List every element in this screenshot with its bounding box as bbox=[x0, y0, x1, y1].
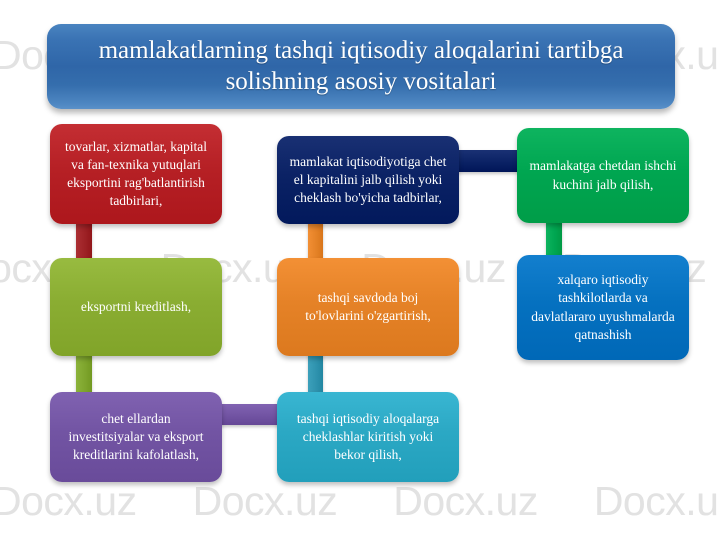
node-label: tovarlar, xizmatlar, kapital va fan-texn… bbox=[62, 138, 210, 210]
node-label: eksportni kreditlash, bbox=[81, 298, 191, 316]
diagram-canvas: mamlakatlarning tashqi iqtisodiy aloqala… bbox=[0, 0, 720, 540]
node-label: mamlakat iqtisodiyotiga chet el kapitali… bbox=[289, 153, 447, 207]
diagram-node-xalqaro-tashkilotlar[interactable]: xalqaro iqtisodiy tashkilotlarda va davl… bbox=[517, 255, 689, 360]
diagram-node-boj-tolovlari[interactable]: tashqi savdoda boj to'lovlarini o'zgarti… bbox=[277, 258, 459, 356]
diagram-node-investitsiya-kafolat[interactable]: chet ellardan investitsiyalar va eksport… bbox=[50, 392, 222, 482]
diagram-node-eksportni-kreditlash[interactable]: eksportni kreditlash, bbox=[50, 258, 222, 356]
diagram-node-cheklashlar[interactable]: tashqi iqtisodiy aloqalarga cheklashlar … bbox=[277, 392, 459, 482]
diagram-node-chet-el-kapitali[interactable]: mamlakat iqtisodiyotiga chet el kapitali… bbox=[277, 136, 459, 224]
connector-node5-node8 bbox=[308, 350, 323, 398]
node-label: tashqi iqtisodiy aloqalarga cheklashlar … bbox=[289, 410, 447, 464]
node-label: mamlakatga chetdan ishchi kuchini jalb q… bbox=[529, 157, 677, 193]
node-label: chet ellardan investitsiyalar va eksport… bbox=[62, 410, 210, 464]
connector-node7-node8 bbox=[214, 404, 284, 425]
diagram-title-banner: mamlakatlarning tashqi iqtisodiy aloqala… bbox=[47, 24, 675, 109]
diagram-node-tovarlar-eksport[interactable]: tovarlar, xizmatlar, kapital va fan-texn… bbox=[50, 124, 222, 224]
diagram-title-text: mamlakatlarning tashqi iqtisodiy aloqala… bbox=[67, 36, 655, 97]
connector-node4-node7 bbox=[76, 350, 92, 398]
connector-node2-node3 bbox=[452, 150, 524, 172]
diagram-node-ishchi-kuchi[interactable]: mamlakatga chetdan ishchi kuchini jalb q… bbox=[517, 128, 689, 223]
node-label: tashqi savdoda boj to'lovlarini o'zgarti… bbox=[289, 289, 447, 325]
node-label: xalqaro iqtisodiy tashkilotlarda va davl… bbox=[529, 271, 677, 343]
